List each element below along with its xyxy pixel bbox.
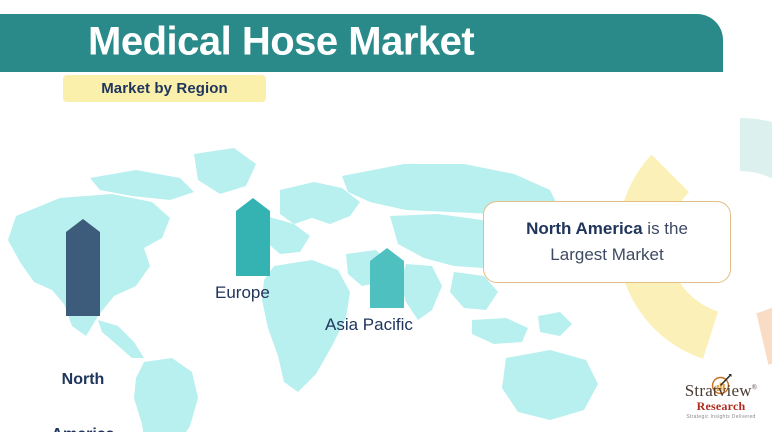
stratview-logo-sub: Research [675,399,767,414]
stratview-logo[interactable]: Stratview® Research Strategic Insights D… [675,381,767,420]
bar-europe-shape [236,198,270,276]
bar-asia-pacific [370,248,404,308]
stratview-logo-tagline: Strategic Insights Delivered [675,414,767,420]
bar-label-north-america-line2: America [23,426,143,432]
bar-label-asia-pacific: Asia Pacific [325,315,413,335]
subtitle-badge: Market by Region [63,75,266,102]
stratview-logo-wordmark: Stratview [685,381,752,400]
bar-label-north-america: North America [23,334,143,432]
bar-north-america [66,219,100,316]
header-banner: Medical Hose Market [0,14,723,72]
donut-segment-mint [740,118,772,243]
registered-trademark-icon: ® [752,383,758,391]
callout-emphasis: North America [526,219,643,238]
callout-line-1: North America is the [526,216,688,242]
donut-segment-peach [740,243,772,365]
bar-europe [236,198,270,276]
stratview-logo-name: Stratview® [685,381,757,401]
callout-rest: is the [643,219,688,238]
bar-asia-pacific-shape [370,248,404,308]
bar-label-europe: Europe [215,283,270,303]
callout-box: North America is the Largest Market [483,201,731,283]
subtitle-badge-label: Market by Region [101,80,228,97]
callout-line-2: Largest Market [550,242,663,268]
infographic-canvas: Medical Hose Market Market by Region Nor… [0,0,772,432]
bar-label-north-america-line1: North [23,371,143,389]
bar-north-america-shape [66,219,100,316]
page-title: Medical Hose Market [88,20,474,65]
